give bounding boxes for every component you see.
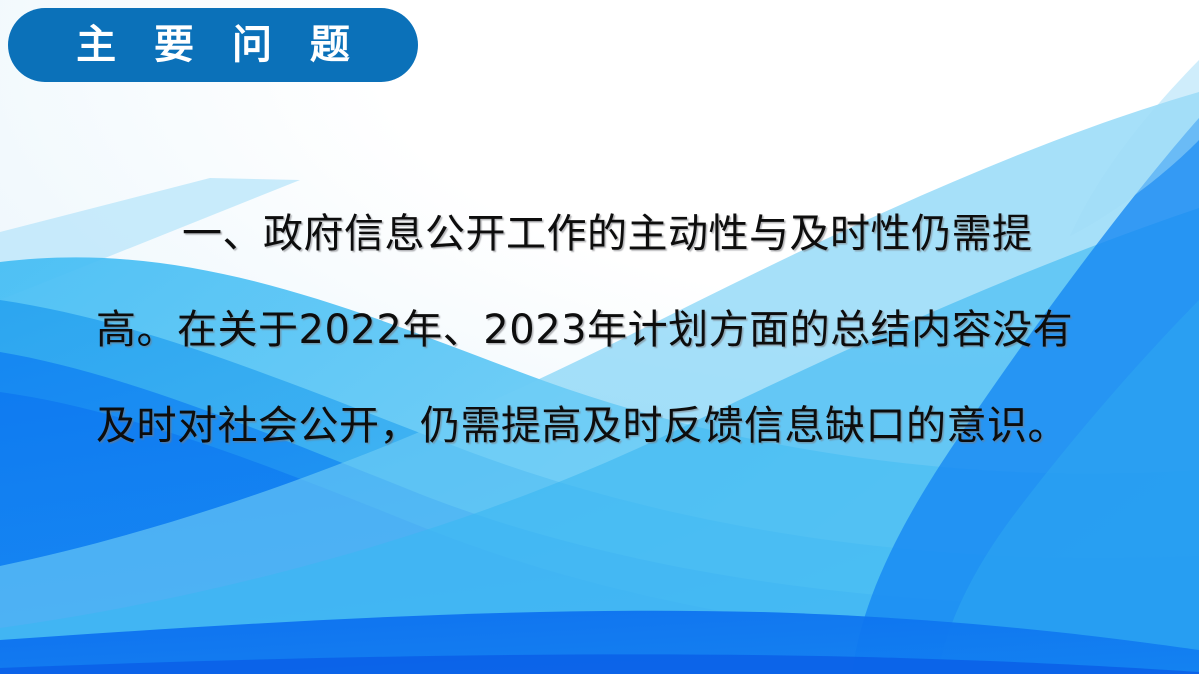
body-line-1: 一、政府信息公开工作的主动性与及时性仍需提: [96, 186, 1108, 282]
presentation-slide: 主 要 问 题 一、政府信息公开工作的主动性与及时性仍需提 高。在关于2022年…: [0, 0, 1199, 674]
slide-title-text: 主 要 问 题: [64, 25, 362, 65]
slide-body-text: 一、政府信息公开工作的主动性与及时性仍需提 高。在关于2022年、2023年计划…: [96, 186, 1108, 474]
body-line-3: 及时对社会公开，仍需提高及时反馈信息缺口的意识。: [96, 378, 1108, 474]
body-line-2: 高。在关于2022年、2023年计划方面的总结内容没有: [96, 282, 1108, 378]
slide-title-badge: 主 要 问 题: [8, 8, 418, 82]
